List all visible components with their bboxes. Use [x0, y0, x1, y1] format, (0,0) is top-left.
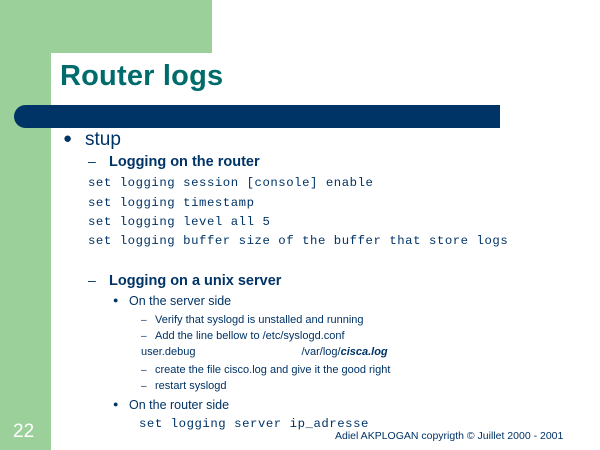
list-item-step: –create the file cisco.log and give it t… [141, 364, 390, 376]
syslog-path-file: cisca.log [341, 346, 388, 358]
list-item-step: –Add the line bellow to /etc/syslogd.con… [141, 330, 345, 342]
slide: Router logs 22 ●stup –Logging on the rou… [0, 0, 600, 450]
dash-bullet-icon: – [141, 315, 155, 326]
code-line: set logging timestamp [88, 196, 255, 210]
step-label: create the file cisco.log and give it th… [155, 364, 390, 376]
code-line: set logging server ip_adresse [139, 417, 369, 431]
syslog-conf-line: user.debug/var/log/cisca.log [141, 346, 388, 358]
section-logging-on-a-unix-server: –Logging on a unix server [88, 272, 281, 289]
step-label: Add the line bellow to /etc/syslogd.conf [155, 330, 345, 342]
code-line: set logging session [console] enable [88, 176, 373, 190]
dash-bullet-icon: – [141, 331, 155, 342]
syslog-facility: user.debug [141, 346, 195, 358]
bullet-item-stup: ●stup [63, 129, 121, 151]
square-bullet-icon: ● [113, 295, 129, 305]
section-logging-on-the-router: –Logging on the router [88, 153, 260, 170]
bullet-item-server-side: ●On the server side [113, 294, 231, 308]
list-item-step: –restart syslogd [141, 380, 227, 392]
list-item-step: –Verify that syslogd is unstalled and ru… [141, 314, 364, 326]
bullet-label-server-side: On the server side [129, 294, 231, 308]
dash-bullet-icon: – [141, 365, 155, 376]
dash-bullet-icon: – [88, 272, 109, 288]
square-bullet-icon: ● [113, 399, 129, 409]
section-label-router: Logging on the router [109, 154, 260, 170]
bullet-label-router-side: On the router side [129, 398, 229, 412]
code-line: set logging level all 5 [88, 215, 270, 229]
syslog-path-prefix: /var/log/ [301, 346, 340, 358]
code-line: set logging buffer size of the buffer th… [88, 234, 508, 248]
slide-body: ●stup –Logging on the router set logging… [0, 0, 600, 450]
bullet-label-stup: stup [85, 129, 121, 150]
step-label: restart syslogd [155, 380, 227, 392]
bullet-item-router-side: ●On the router side [113, 398, 229, 412]
step-label: Verify that syslogd is unstalled and run… [155, 314, 364, 326]
footer-copyright: Adiel AKPLOGAN copyrigth © Juillet 2000 … [335, 430, 563, 442]
disc-bullet-icon: ● [63, 130, 85, 147]
section-label-unix: Logging on a unix server [109, 273, 281, 289]
dash-bullet-icon: – [88, 153, 109, 169]
dash-bullet-icon: – [141, 381, 155, 392]
